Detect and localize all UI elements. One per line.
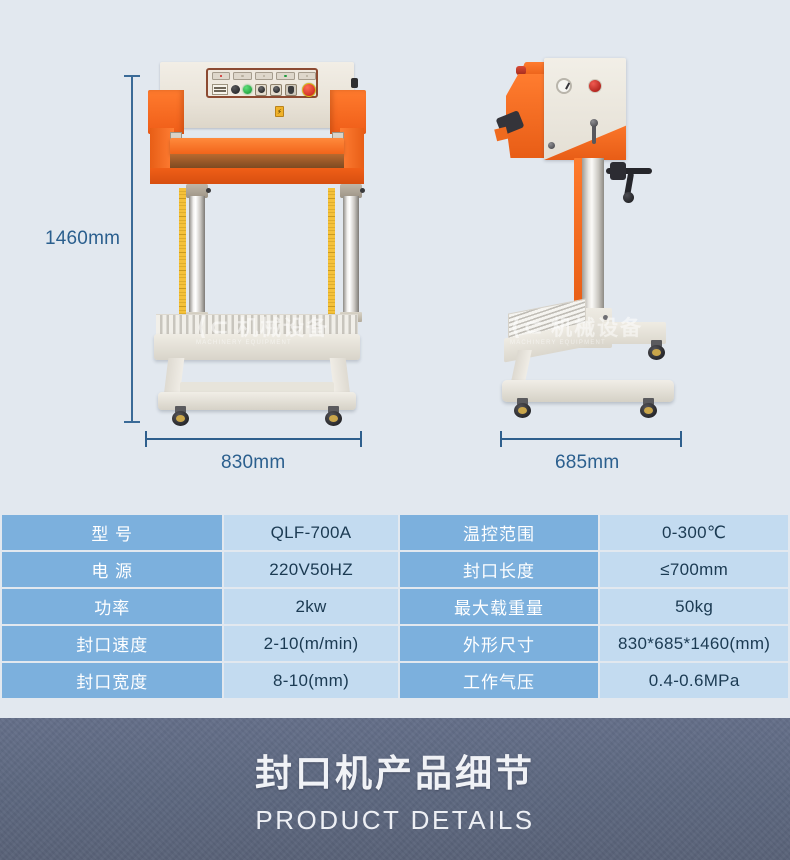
roller-conveyor-front bbox=[156, 314, 358, 336]
lower-head-frame bbox=[150, 168, 364, 184]
spec-value: 50kg bbox=[600, 589, 788, 624]
spec-key: 功率 bbox=[2, 589, 222, 624]
front-width-dimension-line bbox=[145, 438, 362, 440]
product-details-banner: 封口机产品细节 PRODUCT DETAILS bbox=[0, 718, 790, 860]
spec-value: ≤700mm bbox=[600, 552, 788, 587]
table-row: 电 源 220V50HZ 封口长度 ≤700mm bbox=[2, 552, 788, 587]
specification-table: 型 号 QLF-700A 温控范围 0-300℃ 电 源 220V50HZ 封口… bbox=[0, 513, 790, 700]
selector-switch-2-icon[interactable] bbox=[270, 84, 282, 96]
control-panel bbox=[206, 68, 318, 98]
height-dimension-line bbox=[131, 75, 133, 423]
caster-wheel-side-right bbox=[640, 398, 657, 418]
caster-wheel-front-right bbox=[325, 406, 342, 426]
spec-value: QLF-700A bbox=[224, 515, 397, 550]
spec-key: 工作气压 bbox=[400, 663, 599, 698]
emergency-stop-button-icon[interactable] bbox=[302, 83, 316, 97]
banner-title-english: PRODUCT DETAILS bbox=[255, 805, 534, 836]
top-red-knob-icon bbox=[516, 66, 526, 75]
table-row: 型 号 QLF-700A 温控范围 0-300℃ bbox=[2, 515, 788, 550]
selector-switch-1-icon[interactable] bbox=[255, 84, 267, 96]
indicator-lamp-green-icon bbox=[276, 72, 294, 80]
table-row: 封口速度 2-10(m/min) 外形尺寸 830*685*1460(mm) bbox=[2, 626, 788, 661]
chrome-column-right bbox=[343, 196, 359, 314]
pivot-bolt-icon bbox=[548, 142, 555, 149]
start-button-green-icon[interactable] bbox=[243, 85, 252, 94]
spec-key: 封口速度 bbox=[2, 626, 222, 661]
spec-key: 外形尺寸 bbox=[400, 626, 599, 661]
side-knob-icon bbox=[351, 78, 358, 88]
machine-side-view bbox=[498, 58, 688, 446]
control-row bbox=[212, 82, 316, 97]
spec-value: 0-300℃ bbox=[600, 515, 788, 550]
spec-key: 型 号 bbox=[2, 515, 222, 550]
caster-wheel-side-left bbox=[514, 398, 531, 418]
spec-value: 2kw bbox=[224, 589, 397, 624]
caster-wheel-front-left bbox=[172, 406, 189, 426]
table-row: 功率 2kw 最大载重量 50kg bbox=[2, 589, 788, 624]
indicator-lamp-red-icon bbox=[212, 72, 230, 80]
product-photo-area: 1460mm bbox=[0, 0, 790, 513]
spec-value: 8-10(mm) bbox=[224, 663, 397, 698]
height-dimension-label: 1460mm bbox=[45, 228, 120, 250]
indicator-lamp-row bbox=[212, 72, 316, 80]
sealing-bar bbox=[170, 138, 344, 154]
section-divider bbox=[0, 703, 790, 718]
indicator-lamp-blank-1-icon bbox=[233, 72, 251, 80]
speed-knob-icon[interactable] bbox=[231, 85, 240, 94]
spec-key: 封口宽度 bbox=[2, 663, 222, 698]
temperature-display bbox=[212, 84, 228, 95]
table-row: 封口宽度 8-10(mm) 工作气压 0.4-0.6MPa bbox=[2, 663, 788, 698]
front-width-dimension-label: 830mm bbox=[221, 452, 285, 474]
latch-handle-icon bbox=[592, 122, 596, 144]
measuring-tape-right-icon bbox=[328, 188, 335, 314]
height-adjust-crank bbox=[606, 162, 654, 200]
spec-key: 封口长度 bbox=[400, 552, 599, 587]
measuring-tape-left-icon bbox=[179, 188, 186, 314]
warning-sticker-icon bbox=[275, 106, 284, 117]
side-width-dimension-line bbox=[500, 438, 682, 440]
toggle-switch-icon[interactable] bbox=[285, 84, 297, 96]
chrome-column-left bbox=[189, 196, 205, 314]
pressure-gauge-icon bbox=[556, 78, 572, 94]
sealing-bar-shadow bbox=[170, 154, 344, 168]
conveyor-body-front bbox=[154, 334, 360, 360]
spec-value: 220V50HZ bbox=[224, 552, 397, 587]
product-detail-page: 1460mm bbox=[0, 0, 790, 860]
spec-key: 温控范围 bbox=[400, 515, 599, 550]
spec-key: 电 源 bbox=[2, 552, 222, 587]
spec-value: 830*685*1460(mm) bbox=[600, 626, 788, 661]
indicator-lamp-blank-3-icon bbox=[298, 72, 316, 80]
spec-table-body: 型 号 QLF-700A 温控范围 0-300℃ 电 源 220V50HZ 封口… bbox=[2, 515, 788, 698]
spec-key: 最大载重量 bbox=[400, 589, 599, 624]
side-indicator-red-icon bbox=[588, 79, 602, 93]
machine-front-view bbox=[148, 62, 366, 444]
caster-wheel-side-rear bbox=[648, 340, 665, 360]
machine-head-housing bbox=[160, 62, 354, 128]
indicator-lamp-blank-2-icon bbox=[255, 72, 273, 80]
side-width-dimension-label: 685mm bbox=[555, 452, 619, 474]
spec-value: 0.4-0.6MPa bbox=[600, 663, 788, 698]
spec-value: 2-10(m/min) bbox=[224, 626, 397, 661]
banner-title-chinese: 封口机产品细节 bbox=[255, 743, 535, 797]
